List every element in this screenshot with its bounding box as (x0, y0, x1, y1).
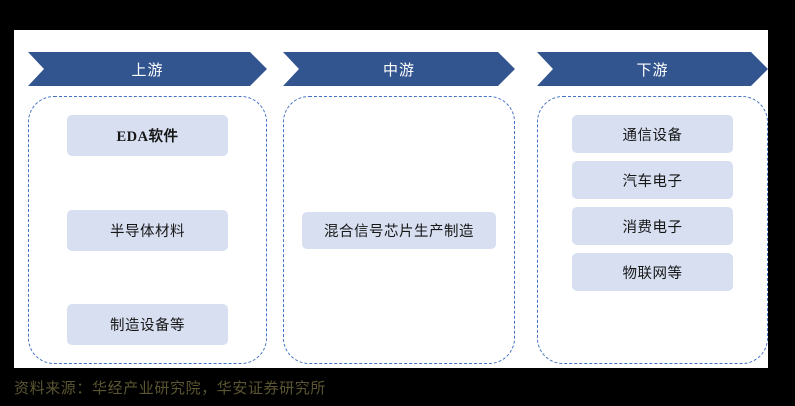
item-pill[interactable]: 半导体材料 (67, 210, 228, 251)
column-downstream: 下游 通信设备 汽车电子 消费电子 物联网等 (537, 52, 768, 364)
dashed-container-downstream: 通信设备 汽车电子 消费电子 物联网等 (537, 96, 768, 364)
banner-upstream: 上游 (28, 52, 267, 86)
item-pill[interactable]: 制造设备等 (67, 304, 228, 345)
source-footer: 资料来源：华经产业研究院，华安证券研究所 (14, 372, 774, 402)
column-midstream: 中游 混合信号芯片生产制造 (283, 52, 515, 364)
item-pill[interactable]: 通信设备 (572, 115, 733, 153)
item-pill[interactable]: 物联网等 (572, 253, 733, 291)
column-upstream: 上游 EDA软件 半导体材料 制造设备等 (28, 52, 267, 364)
item-pill[interactable]: 混合信号芯片生产制造 (302, 212, 496, 249)
dashed-container-upstream: EDA软件 半导体材料 制造设备等 (28, 96, 267, 364)
figure-root: 上游 EDA软件 半导体材料 制造设备等 中游 混合信号芯片生产制造 (0, 0, 795, 406)
banner-label-downstream: 下游 (537, 52, 768, 86)
item-pill[interactable]: 消费电子 (572, 207, 733, 245)
banner-midstream: 中游 (283, 52, 515, 86)
dashed-container-midstream: 混合信号芯片生产制造 (283, 96, 515, 364)
figure-canvas: 上游 EDA软件 半导体材料 制造设备等 中游 混合信号芯片生产制造 (14, 30, 768, 368)
item-pill[interactable]: 汽车电子 (572, 161, 733, 199)
item-pill[interactable]: EDA软件 (67, 115, 228, 156)
banner-label-upstream: 上游 (28, 52, 267, 86)
banner-label-midstream: 中游 (283, 52, 515, 86)
source-text: 资料来源：华经产业研究院，华安证券研究所 (14, 377, 326, 398)
banner-downstream: 下游 (537, 52, 768, 86)
